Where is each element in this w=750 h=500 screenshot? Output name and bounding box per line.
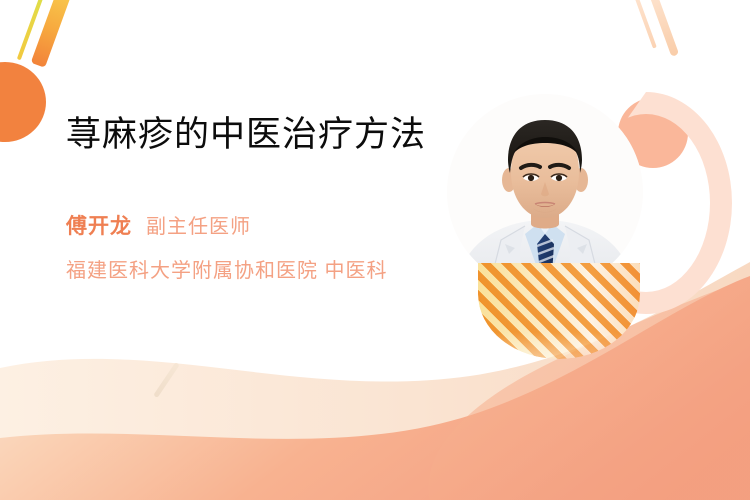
doctor-title: 副主任医师 <box>146 210 251 239</box>
doctor-video-banner: 荨麻疹的中医治疗方法 傅开龙 副主任医师 福建医科大学附属协和医院 中医科 <box>0 0 750 500</box>
doctor-affiliation: 福建医科大学附属协和医院 中医科 <box>66 254 446 283</box>
diagonal-stroke-peach-a-icon <box>629 0 657 49</box>
orange-circle-decoration <box>0 62 46 142</box>
doctor-credit-row: 傅开龙 副主任医师 <box>66 210 446 240</box>
text-block: 荨麻疹的中医治疗方法 傅开龙 副主任医师 福建医科大学附属协和医院 中医科 <box>66 112 446 283</box>
diagonal-stroke-orange-icon <box>31 0 77 68</box>
portrait-cluster <box>430 78 750 408</box>
striped-semicircle-decoration <box>478 263 640 359</box>
doctor-portrait-photo <box>447 94 643 290</box>
diagonal-stroke-peach-b-icon <box>643 0 679 57</box>
diagonal-stroke-green-icon <box>17 0 47 60</box>
doctor-name: 傅开龙 <box>66 210 132 240</box>
page-title: 荨麻疹的中医治疗方法 <box>66 112 446 158</box>
